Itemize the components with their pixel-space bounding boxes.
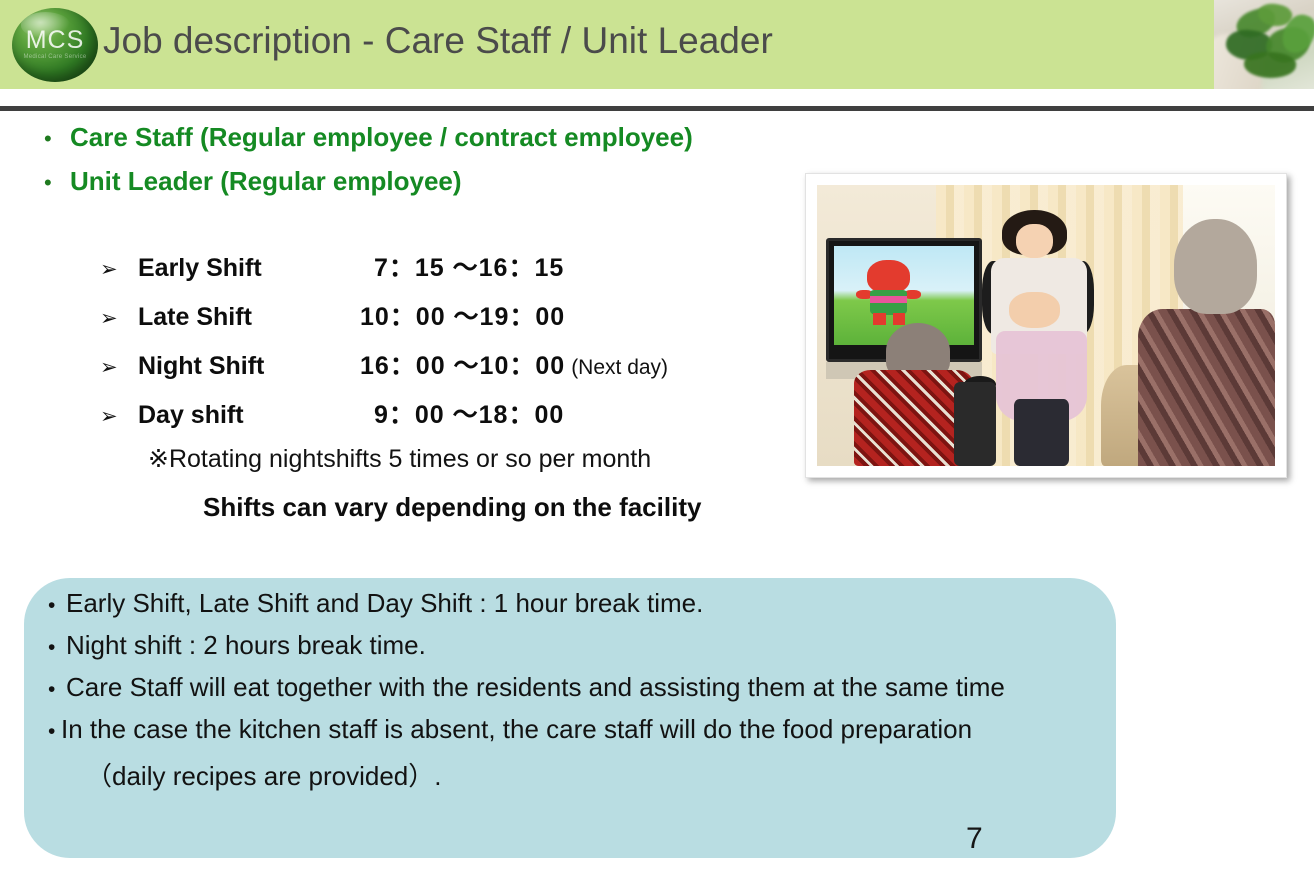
foreground-resident-body [1138, 309, 1275, 466]
shift-name: Early Shift [138, 254, 360, 283]
list-item: • Unit Leader (Regular employee) [36, 166, 856, 197]
break-info-text: Night shift : 2 hours break time. [66, 630, 426, 661]
break-info-continuation: （daily recipes are provided）. [48, 756, 1108, 793]
role-label: Unit Leader (Regular employee) [70, 166, 462, 197]
break-info-text: Care Staff will eat together with the re… [66, 672, 1005, 703]
break-info-text: In the case the kitchen staff is absent,… [61, 714, 972, 745]
page-number: 7 [966, 822, 983, 856]
logo-subtitle: Medical Care Service [12, 54, 98, 60]
bullet-icon: • [48, 679, 66, 700]
facility-photo-frame [805, 173, 1287, 478]
arrow-bullet-icon: ➢ [100, 259, 138, 280]
shift-row: ➢ Night Shift 16：00 ～10：00 (Next day) [100, 346, 800, 395]
break-info-list: • Early Shift, Late Shift and Day Shift … [48, 588, 1108, 793]
slide-header: MCS Medical Care Service Job description… [0, 0, 1314, 89]
break-info-text: Early Shift, Late Shift and Day Shift : … [66, 588, 703, 619]
shift-variation-note: Shifts can vary depending on the facilit… [203, 492, 701, 523]
shift-time: 9：00 ～18：00 [360, 395, 564, 431]
cartoon-leg [873, 313, 886, 325]
staff-hands [1009, 292, 1059, 329]
arrow-bullet-icon: ➢ [100, 308, 138, 329]
list-item: • Night shift : 2 hours break time. [48, 630, 1108, 661]
shift-row: ➢ Late Shift 10：00 ～19：00 [100, 297, 800, 346]
break-info-box: • Early Shift, Late Shift and Day Shift … [24, 578, 1116, 858]
staff-face [1016, 224, 1053, 258]
bullet-icon: • [48, 595, 66, 616]
logo-text: MCS [12, 28, 98, 53]
bullet-icon: • [48, 637, 66, 658]
cartoon-leg [893, 313, 906, 325]
arrow-bullet-icon: ➢ [100, 406, 138, 427]
shift-time: 16：00 ～10：00 [360, 346, 565, 382]
bullet-icon: • [48, 721, 61, 742]
cartoon-belt [870, 296, 907, 303]
foreground-resident-head [1174, 219, 1256, 315]
arrow-bullet-icon: ➢ [100, 357, 138, 378]
shift-time: 7：15 ～16：15 [360, 248, 564, 284]
list-item: • Care Staff (Regular employee / contrac… [36, 122, 856, 153]
list-item: • Early Shift, Late Shift and Day Shift … [48, 588, 1108, 619]
list-item: • Care Staff will eat together with the … [48, 672, 1108, 703]
bullet-icon: • [36, 128, 70, 150]
shift-name: Day shift [138, 401, 360, 430]
shift-time: 10：00 ～19：00 [360, 297, 565, 333]
shift-name: Night Shift [138, 352, 360, 381]
page-title: Job description - Care Staff / Unit Lead… [103, 20, 773, 62]
staff-legs [1014, 399, 1069, 466]
rotating-nightshift-note: ※Rotating nightshifts 5 times or so per … [148, 444, 651, 474]
role-label: Care Staff (Regular employee / contract … [70, 122, 693, 153]
list-item: • In the case the kitchen staff is absen… [48, 714, 1108, 745]
shift-note: (Next day) [565, 356, 668, 380]
facility-photo [817, 185, 1275, 466]
mcs-logo: MCS Medical Care Service [12, 8, 98, 82]
header-divider [0, 106, 1314, 111]
shift-row: ➢ Day shift 9：00 ～18：00 [100, 395, 800, 444]
shift-name: Late Shift [138, 303, 360, 332]
role-list: • Care Staff (Regular employee / contrac… [36, 122, 856, 210]
cartoon-head [867, 260, 909, 294]
wheelchair [954, 382, 995, 466]
header-decorative-photo [1214, 0, 1314, 89]
shift-row: ➢ Early Shift 7：15 ～16：15 [100, 248, 800, 297]
bullet-icon: • [36, 172, 70, 194]
shift-list: ➢ Early Shift 7：15 ～16：15 ➢ Late Shift 1… [100, 248, 800, 444]
